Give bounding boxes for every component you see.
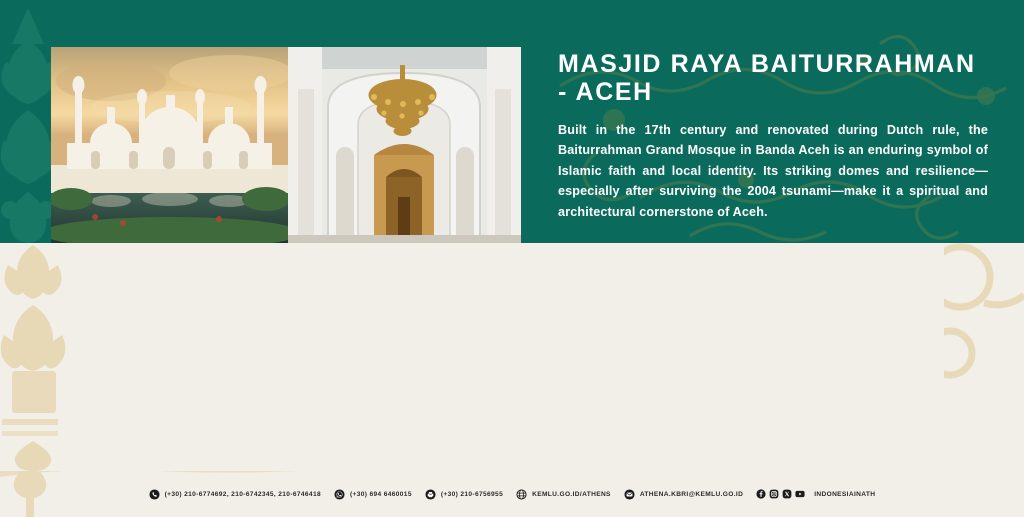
top-section-body: Built in the 17th century and renovated … — [558, 120, 988, 222]
contact-phone-text: (+30) 210-6774692, 210-6742345, 210-6746… — [165, 491, 321, 498]
contact-website[interactable]: KEMLU.GO.ID/ATHENS — [516, 489, 611, 500]
facebook-icon[interactable] — [756, 489, 766, 499]
contact-whatsapp[interactable]: (+30) 694 6460015 — [334, 489, 412, 500]
damask-ornament-bottom-left — [0, 243, 66, 471]
x-twitter-icon[interactable] — [782, 489, 792, 499]
top-section-text: MASJID RAYA BAITURRAHMAN - ACEH Built in… — [558, 50, 988, 222]
fax-icon — [425, 489, 436, 500]
bottom-section-panel: IBRAHIM PASHA MOSQUE - RHODES The oldest… — [0, 243, 1024, 471]
whatsapp-icon — [334, 489, 345, 500]
footer-contact-bar: (+30) 210-6774692, 210-6742345, 210-6746… — [0, 471, 1024, 517]
baiturrahman-interior-photo — [288, 47, 521, 243]
top-section-title: MASJID RAYA BAITURRAHMAN - ACEH — [558, 50, 988, 106]
instagram-icon[interactable] — [769, 489, 779, 499]
contact-fax[interactable]: (+30) 210-6756955 — [425, 489, 503, 500]
email-icon — [624, 489, 635, 500]
social-handle: INDONESIAINATH — [814, 491, 875, 498]
circular-ornament-right — [944, 243, 1024, 471]
contact-fax-text: (+30) 210-6756955 — [441, 491, 503, 498]
social-links: INDONESIAINATH — [756, 489, 875, 499]
top-section-panel: MASJID RAYA BAITURRAHMAN - ACEH Built in… — [0, 0, 1024, 243]
damask-ornament-left — [0, 0, 56, 243]
baiturrahman-exterior-photo — [51, 47, 288, 243]
contact-website-text: KEMLU.GO.ID/ATHENS — [532, 491, 611, 498]
contact-email[interactable]: ATHENA.KBRI@KEMLU.GO.ID — [624, 489, 743, 500]
globe-icon — [516, 489, 527, 500]
contact-email-text: ATHENA.KBRI@KEMLU.GO.ID — [640, 491, 743, 498]
youtube-icon[interactable] — [795, 489, 805, 499]
contact-items: (+30) 210-6774692, 210-6742345, 210-6746… — [0, 471, 1024, 517]
phone-icon — [149, 489, 160, 500]
poster-canvas: MASJID RAYA BAITURRAHMAN - ACEH Built in… — [0, 0, 1024, 517]
contact-phone[interactable]: (+30) 210-6774692, 210-6742345, 210-6746… — [149, 489, 321, 500]
contact-whatsapp-text: (+30) 694 6460015 — [350, 491, 412, 498]
